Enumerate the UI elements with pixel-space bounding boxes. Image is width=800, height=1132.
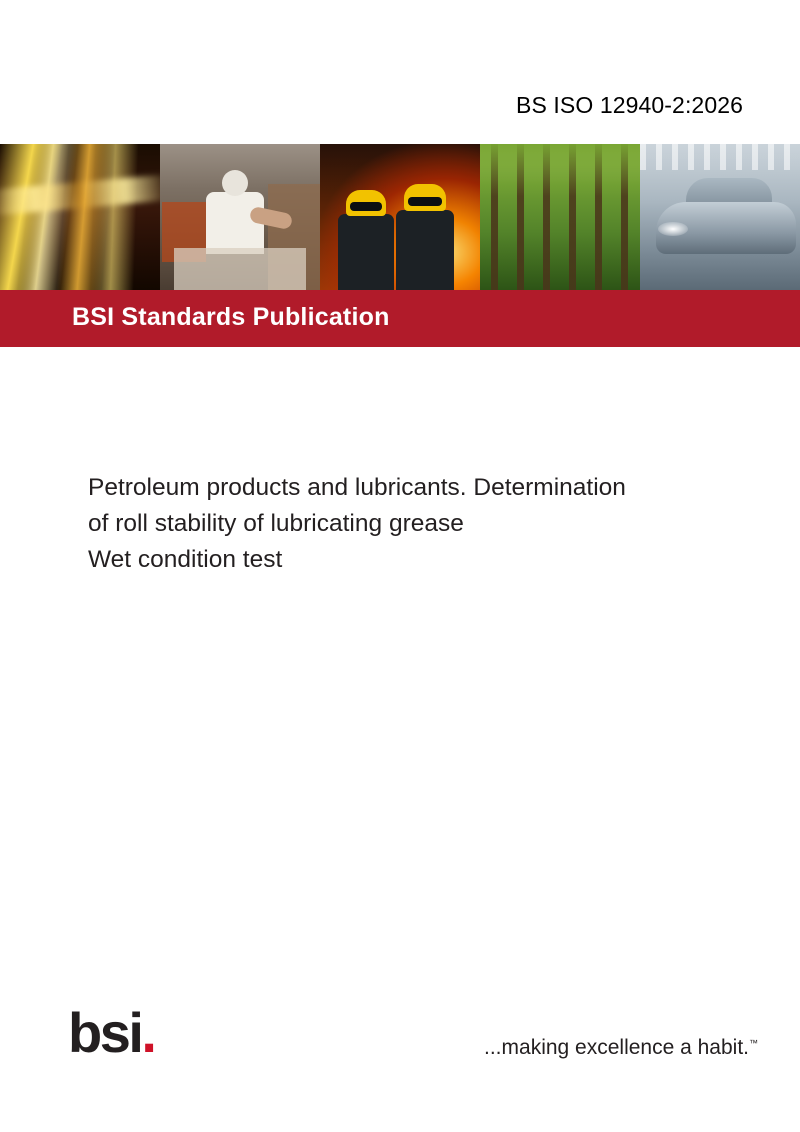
standard-number: BS ISO 12940-2:2026	[516, 92, 743, 119]
firefighter-visor-left	[350, 202, 382, 211]
banner-label: BSI Standards Publication	[72, 303, 390, 332]
firefighter-suit-left	[338, 214, 394, 290]
bsi-tagline: ...making excellence a habit.™	[484, 1036, 758, 1060]
title-line-2: of roll stability of lubricating grease	[88, 506, 800, 542]
bsi-logo-text: bsi	[68, 1001, 141, 1064]
warehouse-worker-photo	[160, 144, 320, 290]
document-title: Petroleum products and lubricants. Deter…	[88, 470, 800, 578]
forest-photo	[480, 144, 640, 290]
cover-image-strip	[0, 144, 800, 290]
firefighters-photo	[320, 144, 480, 290]
warehouse-counter	[174, 248, 306, 290]
forest-canopy	[480, 144, 640, 196]
firefighter-suit-right	[396, 210, 454, 290]
title-line-1: Petroleum products and lubricants. Deter…	[88, 470, 800, 506]
worker-head	[222, 170, 248, 196]
tagline-text: ...making excellence a habit.	[484, 1036, 749, 1059]
bsi-standards-publication-banner: BSI Standards Publication	[0, 290, 800, 347]
light-trails-photo	[0, 144, 160, 290]
firefighter-visor-right	[408, 197, 442, 206]
car-headlight	[658, 222, 688, 236]
trademark-symbol: ™	[749, 1038, 758, 1048]
car-showroom-photo	[640, 144, 800, 290]
title-line-3: Wet condition test	[88, 542, 800, 578]
bsi-logo-dot: .	[141, 1001, 154, 1064]
showroom-ceiling-lights	[640, 144, 800, 170]
bsi-logo: bsi.	[68, 1005, 154, 1061]
